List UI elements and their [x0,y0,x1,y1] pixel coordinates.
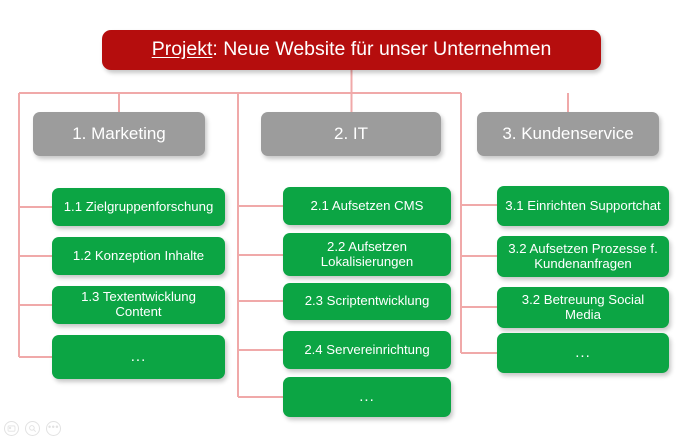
root-label-emphasis: Projekt [152,38,213,60]
leaf-node-2-4[interactable]: 2.4 Servereinrichtung [283,331,451,369]
leaf-label-3-2: 3.2 Aufsetzen Prozesse f. Kundenanfragen [505,242,661,272]
leaf-node-2-5[interactable]: ... [283,377,451,417]
leaf-label-1-3: 1.3 Textentwicklung Content [60,290,217,320]
leaf-label-3-1: 3.1 Einrichten Supportchat [505,199,660,214]
leaf-node-2-1[interactable]: 2.1 Aufsetzen CMS [283,187,451,225]
leaf-node-3-1[interactable]: 3.1 Einrichten Supportchat [497,186,669,226]
leaf-label-2-1: 2.1 Aufsetzen CMS [311,199,424,214]
leaf-label-1-4: ... [131,349,147,366]
leaf-node-1-3[interactable]: 1.3 Textentwicklung Content [52,286,225,324]
branch-node-3[interactable]: 3. Kundenservice [477,112,659,156]
leaf-node-1-2[interactable]: 1.2 Konzeption Inhalte [52,237,225,275]
leaf-node-1-1[interactable]: 1.1 Zielgruppenforschung [52,188,225,226]
leaf-node-2-2[interactable]: 2.2 Aufsetzen Lokalisierungen [283,233,451,276]
image-icon[interactable] [4,421,19,436]
leaf-label-3-4: ... [575,345,591,362]
branch-node-2[interactable]: 2. IT [261,112,441,156]
leaf-node-3-3[interactable]: 3.2 Betreuung Social Media [497,287,669,328]
more-icon-label: ••• [48,423,59,432]
mini-toolbar: ••• [4,421,61,436]
leaf-label-2-2: 2.2 Aufsetzen Lokalisierungen [291,240,443,270]
leaf-node-1-4[interactable]: ... [52,335,225,379]
branch-label-3: 3. Kundenservice [502,124,633,143]
leaf-node-2-3[interactable]: 2.3 Scriptentwicklung [283,283,451,320]
root-label-rest: : Neue Website für unser Unternehmen [212,38,551,60]
leaf-label-1-1: 1.1 Zielgruppenforschung [64,200,214,215]
leaf-label-2-3: 2.3 Scriptentwicklung [305,294,430,309]
root-node[interactable]: Projekt: Neue Website für unser Unterneh… [102,30,601,70]
leaf-node-3-2[interactable]: 3.2 Aufsetzen Prozesse f. Kundenanfragen [497,236,669,277]
branch-label-1: 1. Marketing [72,124,166,143]
root-label: Projekt: Neue Website für unser Unterneh… [152,39,552,61]
leaf-label-2-5: ... [359,389,375,406]
leaf-label-2-4: 2.4 Servereinrichtung [304,343,429,358]
more-icon[interactable]: ••• [46,421,61,436]
branch-node-1[interactable]: 1. Marketing [33,112,205,156]
search-icon[interactable] [25,421,40,436]
leaf-label-3-3: 3.2 Betreuung Social Media [505,293,661,323]
org-chart-canvas: Projekt: Neue Website für unser Unterneh… [0,0,700,440]
leaf-node-3-4[interactable]: ... [497,333,669,373]
leaf-label-1-2: 1.2 Konzeption Inhalte [73,249,204,264]
branch-label-2: 2. IT [334,124,368,143]
